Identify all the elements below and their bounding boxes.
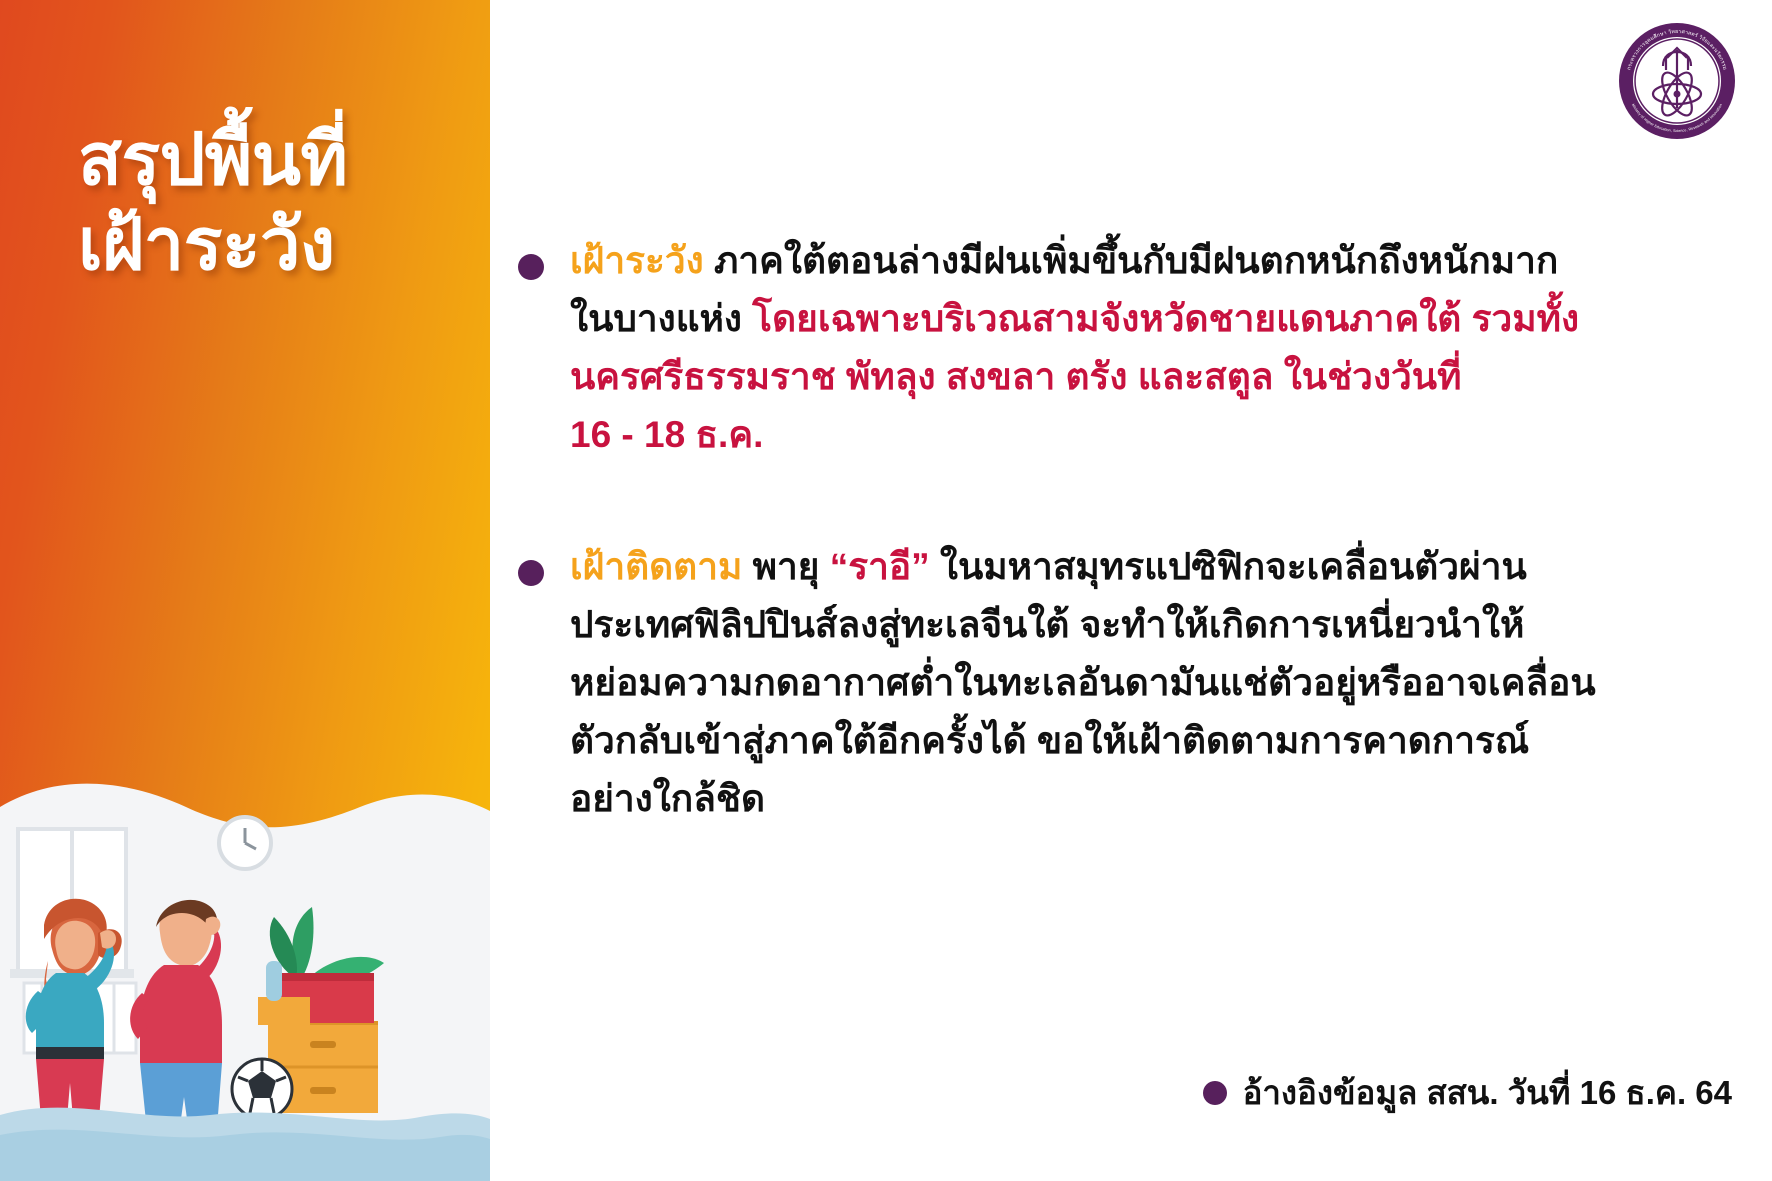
bullet-dot-icon (518, 254, 544, 280)
footer-bullet-dot-icon (1203, 1081, 1227, 1105)
text-segment: ในบางแห่ง (570, 298, 752, 339)
page-title: สรุปพื้นที่ เฝ้าระวัง (78, 118, 478, 288)
bullet-line: อย่างใกล้ชิด (570, 770, 1728, 828)
text-segment: อย่างใกล้ชิด (570, 778, 765, 819)
bullet-monitor-text: เฝ้าติดตาม พายุ “ราอี” ในมหาสมุทรแปซิฟิก… (570, 538, 1728, 828)
keyword-segment: นครศรีธรรมราช พัทลุง สงขลา ตรัง และสตูล … (570, 356, 1462, 397)
bullet-line: ประเทศฟิลิปปินส์ลงสู่ทะเลจีนใต้ จะทำให้เ… (570, 596, 1728, 654)
bullet-line: ตัวกลับเข้าสู่ภาคใต้อีกครั้งได้ ขอให้เฝ้… (570, 712, 1728, 770)
bullet-dot-icon (518, 560, 544, 586)
keyword-segment: เฝ้าระวัง (570, 240, 704, 281)
bullet-item-monitor: เฝ้าติดตาม พายุ “ราอี” ในมหาสมุทรแปซิฟิก… (518, 538, 1728, 828)
bullet-line: หย่อมความกดอากาศต่ำในทะเลอันดามันแช่ตัวอ… (570, 654, 1728, 712)
text-segment: ประเทศฟิลิปปินส์ลงสู่ทะเลจีนใต้ จะทำให้เ… (570, 604, 1524, 645)
bullet-watch-text: เฝ้าระวัง ภาคใต้ตอนล่างมีฝนเพิ่มขึ้นกับม… (570, 232, 1728, 464)
keyword-segment: เฝ้าติดตาม (570, 546, 742, 587)
text-segment: ตัวกลับเข้าสู่ภาคใต้อีกครั้งได้ ขอให้เฝ้… (570, 720, 1529, 761)
bullet-line: เฝ้าติดตาม พายุ “ราอี” ในมหาสมุทรแปซิฟิก… (570, 538, 1728, 596)
source-reference: อ้างอิงข้อมูล สสน. วันที่ 16 ธ.ค. 64 (1203, 1066, 1732, 1119)
bullet-line: 16 - 18 ธ.ค. (570, 406, 1728, 464)
keyword-segment: โดยเฉพาะบริเวณสามจังหวัดชายแดนภาคใต้ รวม… (752, 298, 1579, 339)
keyword-segment: 16 - 18 ธ.ค. (570, 414, 763, 455)
bullet-line: ในบางแห่ง โดยเฉพาะบริเวณสามจังหวัดชายแดน… (570, 290, 1728, 348)
page-title-line-2: เฝ้าระวัง (78, 203, 478, 288)
keyword-segment: “ราอี” (830, 546, 930, 587)
content-area: เฝ้าระวัง ภาคใต้ตอนล่างมีฝนเพิ่มขึ้นกับม… (518, 0, 1772, 1181)
source-reference-text: อ้างอิงข้อมูล สสน. วันที่ 16 ธ.ค. 64 (1243, 1066, 1732, 1119)
bullet-item-watch: เฝ้าระวัง ภาคใต้ตอนล่างมีฝนเพิ่มขึ้นกับม… (518, 232, 1728, 464)
text-segment: หย่อมความกดอากาศต่ำในทะเลอันดามันแช่ตัวอ… (570, 662, 1596, 703)
text-segment: ภาคใต้ตอนล่างมีฝนเพิ่มขึ้นกับมีฝนตกหนักถ… (704, 240, 1559, 281)
flooded-room-illustration (0, 711, 490, 1181)
page-title-line-1: สรุปพื้นที่ (78, 118, 478, 203)
text-segment: พายุ (742, 546, 829, 587)
text-segment: ในมหาสมุทรแปซิฟิกจะเคลื่อนตัวผ่าน (930, 546, 1527, 587)
bullet-line: นครศรีธรรมราช พัทลุง สงขลา ตรัง และสตูล … (570, 348, 1728, 406)
bullet-line: เฝ้าระวัง ภาคใต้ตอนล่างมีฝนเพิ่มขึ้นกับม… (570, 232, 1728, 290)
left-panel: สรุปพื้นที่ เฝ้าระวัง (0, 0, 490, 1181)
